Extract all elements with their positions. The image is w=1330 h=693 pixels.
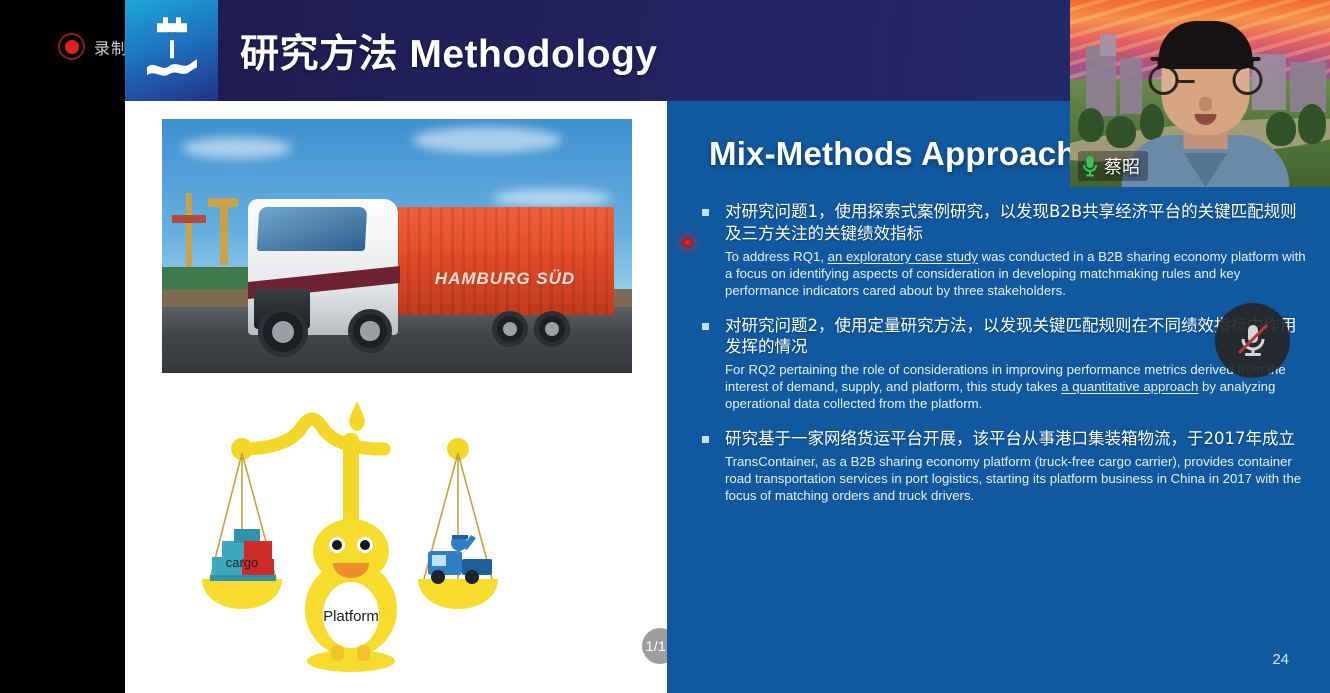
university-tower-logo [143, 13, 201, 83]
bullet-text-cn: 研究基于一家网络货运平台开展，该平台从事港口集装箱物流，于2017年成立 [725, 428, 1310, 450]
participant-figure [1137, 37, 1275, 187]
emphasis-text: an exploratory case study [828, 249, 978, 264]
record-dot-icon [58, 33, 85, 60]
participant-name: 蔡昭 [1104, 153, 1140, 179]
bullet-text-en: TransContainer, as a B2B sharing economy… [725, 453, 1310, 504]
slide-title-cn: 研究方法 [240, 32, 398, 77]
bullet-list: 对研究问题1，使用探索式案例研究，以发现B2B共享经济平台的关键匹配规则及三方关… [695, 201, 1310, 520]
list-item: 对研究问题1，使用探索式案例研究，以发现B2B共享经济平台的关键匹配规则及三方关… [695, 201, 1310, 299]
slide-left-column: HAMBURG SÜD [125, 101, 667, 693]
slide-body: HAMBURG SÜD [125, 101, 1330, 693]
shipping-container [396, 207, 614, 315]
participant-video-tile[interactable]: 蔡昭 [1070, 0, 1330, 187]
bullet-text-cn: 对研究问题1，使用探索式案例研究，以发现B2B共享经济平台的关键匹配规则及三方关… [725, 201, 1310, 245]
laser-pointer-dot [681, 236, 694, 249]
list-item: 研究基于一家网络货运平台开展，该平台从事港口集装箱物流，于2017年成立 Tra… [695, 428, 1310, 504]
bullet-marker-icon [702, 436, 709, 443]
container-brand-text: HAMBURG SÜD [410, 269, 600, 289]
participant-name-badge: 蔡昭 [1078, 151, 1148, 181]
container-truck-photo: HAMBURG SÜD [162, 119, 632, 373]
bullet-text-en: To address RQ1, an exploratory case stud… [725, 248, 1310, 299]
microphone-active-icon [1082, 155, 1098, 177]
slide-number: 24 [1272, 651, 1289, 668]
bullet-marker-icon [702, 209, 709, 216]
platform-label: Platform [323, 608, 379, 625]
microphone-muted-icon [1235, 320, 1271, 362]
bullet-marker-icon [702, 323, 709, 330]
page-title: 研究方法 Methodology [240, 23, 658, 79]
cargo-label: cargo [226, 555, 259, 570]
section-heading: Mix-Methods Approach [709, 135, 1077, 173]
screen-root: 录制中 研究方法 Methodology [0, 0, 1330, 693]
slide-title-en: Methodology [409, 33, 657, 76]
balance-scale-duck-illustration: Platform cargo [200, 383, 500, 683]
logo-band [125, 0, 218, 101]
bullet-text-en: For RQ2 pertaining the role of considera… [725, 361, 1310, 412]
slide-right-panel: Mix-Methods Approach 对研究问题1，使用探索式案例研究，以发… [667, 101, 1330, 693]
emphasis-text: a quantitative approach [1061, 379, 1198, 394]
mute-toggle-button[interactable] [1215, 303, 1290, 378]
